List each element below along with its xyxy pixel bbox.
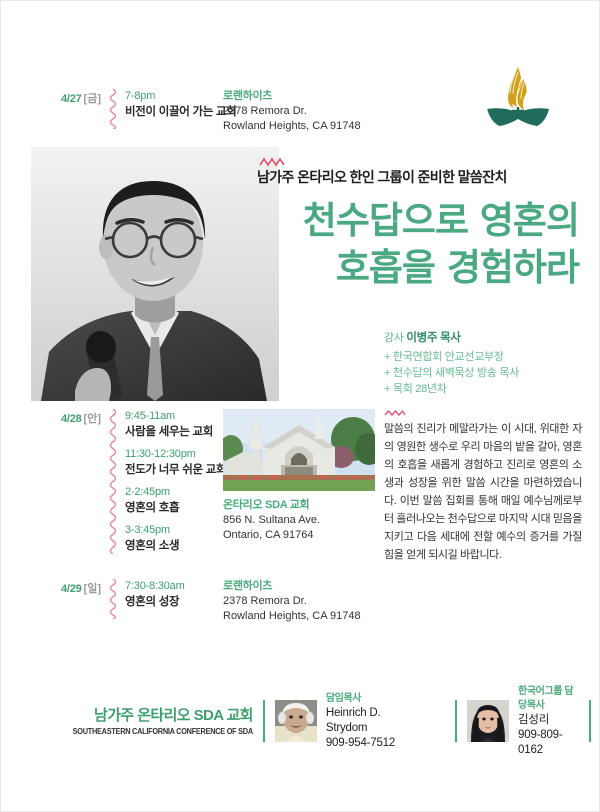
contact-card: 한국어그룹 담당목사 김성리 909-809-0162 [467, 685, 575, 758]
contact-avatar [467, 700, 509, 742]
date-month-day: 4/29 [61, 583, 82, 595]
body-copy: 말씀의 진리가 메말라가는 이 시대, 위대한 자의 영원한 생수로 우리 마음… [384, 409, 582, 564]
venue-block: 로랜하이츠 2378 Remora Dr. Rowland Heights, C… [223, 579, 361, 624]
venue-address-line1: 2378 Remora Dr. [223, 104, 361, 119]
footer-brand: 남가주 온타리오 SDA 교회 SOUTHEASTERN CALIFORNIA … [57, 706, 253, 737]
schedule-row: 4/28[안] 9:45-11am 사람을 세우는 교회 11:30-12:30… [47, 409, 226, 554]
contact-avatar [275, 700, 317, 742]
footer: 남가주 온타리오 SDA 교회 SOUTHEASTERN CALIFORNIA … [1, 691, 600, 751]
session-time: 7:30-8:30am [125, 579, 185, 594]
speaker-credential: + 한국연합회 안교선교부장 [384, 349, 584, 365]
date-month-day: 4/27 [61, 93, 82, 105]
venue-address-line1: 856 N. Sultana Ave. [223, 513, 320, 528]
speaker-photo [31, 147, 279, 401]
session-title: 영혼의 호흡 [125, 500, 226, 516]
headline-line-1: 천수답으로 영혼의 [279, 197, 579, 244]
wavy-divider-icon [109, 89, 118, 129]
contact-info: 한국어그룹 담당목사 김성리 909-809-0162 [518, 685, 575, 758]
session-title: 영혼의 성장 [125, 594, 185, 610]
venue-block: 로랜하이츠 2378 Remora Dr. Rowland Heights, C… [223, 89, 361, 134]
venue-block: 온타리오 SDA 교회 856 N. Sultana Ave. Ontario,… [223, 498, 320, 543]
session-time: 9:45-11am [125, 409, 226, 424]
poster-page: 4/27[금] 7-8pm 비전이 이끌어 가는 교회 로랜하이츠 2378 R… [0, 0, 600, 812]
schedule-date: 4/27[금] [47, 89, 109, 129]
date-month-day: 4/28 [61, 413, 82, 425]
speaker-credential: + 목회 28년차 [384, 381, 584, 397]
zigzag-accent-icon [384, 409, 406, 417]
hero-kicker: 남가주 온타리오 한인 그룹이 준비한 말씀잔치 [257, 167, 507, 187]
contact-role: 담임목사 [326, 692, 397, 706]
contact-phone[interactable]: 909-809-0162 [518, 728, 575, 758]
speaker-info: 강사 이병주 목사 + 한국연합회 안교선교부장 + 천수답의 새벽묵상 방송 … [384, 329, 584, 397]
headline-line-2: 호흡을 경험하라 [279, 244, 579, 291]
contact-phone[interactable]: 909-954-7512 [326, 736, 397, 751]
schedule-date: 4/28[안] [47, 409, 109, 554]
date-day-of-week: [금] [84, 93, 101, 105]
venue-name: 로랜하이츠 [223, 89, 361, 104]
contact-card: 담임목사 Heinrich D. Strydom 909-954-7512 [275, 692, 397, 751]
contact-name: Heinrich D. Strydom [326, 706, 397, 736]
session-item: 7-8pm 비전이 이끌어 가는 교회 [125, 89, 236, 120]
venue-address-line2: Rowland Heights, CA 91748 [223, 609, 361, 624]
contact-name: 김성리 [518, 713, 575, 728]
sda-logo [479, 59, 557, 137]
church-photo [223, 409, 375, 491]
footer-divider [589, 700, 591, 742]
venue-address-line2: Ontario, CA 91764 [223, 528, 320, 543]
session-time: 11:30-12:30pm [125, 447, 226, 462]
session-time: 2-2:45pm [125, 485, 226, 500]
session-title: 비전이 이끌어 가는 교회 [125, 104, 236, 120]
hero-headline: 천수답으로 영혼의 호흡을 경험하라 [279, 197, 579, 291]
session-list: 7:30-8:30am 영혼의 성장 [118, 579, 185, 619]
zigzag-accent-icon [259, 157, 285, 167]
venue-name: 로랜하이츠 [223, 579, 361, 594]
speaker-heading: 강사 이병주 목사 [384, 329, 584, 345]
session-time: 3-3:45pm [125, 523, 226, 538]
contact-role: 한국어그룹 담당목사 [518, 685, 575, 713]
speaker-label: 강사 [384, 332, 404, 344]
session-list: 7-8pm 비전이 이끌어 가는 교회 [118, 89, 236, 129]
schedule-row: 4/27[금] 7-8pm 비전이 이끌어 가는 교회 [47, 89, 236, 129]
session-time: 7-8pm [125, 89, 236, 104]
wavy-divider-icon [109, 579, 118, 619]
session-item: 2-2:45pm 영혼의 호흡 [125, 485, 226, 516]
session-item: 3-3:45pm 영혼의 소생 [125, 523, 226, 554]
schedule-date: 4/29[일] [47, 579, 109, 619]
session-title: 전도가 너무 쉬운 교회 [125, 462, 226, 478]
venue-name: 온타리오 SDA 교회 [223, 498, 320, 513]
speaker-credential: + 천수답의 새벽묵상 방송 목사 [384, 365, 584, 381]
footer-divider [263, 700, 265, 742]
date-day-of-week: [안] [84, 413, 101, 425]
session-title: 사람을 세우는 교회 [125, 424, 226, 440]
footer-divider [455, 700, 457, 742]
speaker-name: 이병주 목사 [406, 332, 460, 344]
venue-address-line1: 2378 Remora Dr. [223, 594, 361, 609]
schedule-row: 4/29[일] 7:30-8:30am 영혼의 성장 [47, 579, 185, 619]
session-item: 11:30-12:30pm 전도가 너무 쉬운 교회 [125, 447, 226, 478]
footer-brand-english: SOUTHEASTERN CALIFORNIA CONFERENCE OF SD… [73, 726, 253, 737]
footer-brand-korean: 남가주 온타리오 SDA 교회 [57, 706, 253, 726]
session-item: 7:30-8:30am 영혼의 성장 [125, 579, 185, 610]
wavy-divider-icon [109, 409, 118, 554]
session-list: 9:45-11am 사람을 세우는 교회 11:30-12:30pm 전도가 너… [118, 409, 226, 554]
session-item: 9:45-11am 사람을 세우는 교회 [125, 409, 226, 440]
contact-info: 담임목사 Heinrich D. Strydom 909-954-7512 [326, 692, 397, 751]
body-paragraph: 말씀의 진리가 메말라가는 이 시대, 위대한 자의 영원한 생수로 우리 마음… [384, 420, 582, 564]
session-title: 영혼의 소생 [125, 538, 226, 554]
date-day-of-week: [일] [84, 583, 101, 595]
venue-address-line2: Rowland Heights, CA 91748 [223, 119, 361, 134]
